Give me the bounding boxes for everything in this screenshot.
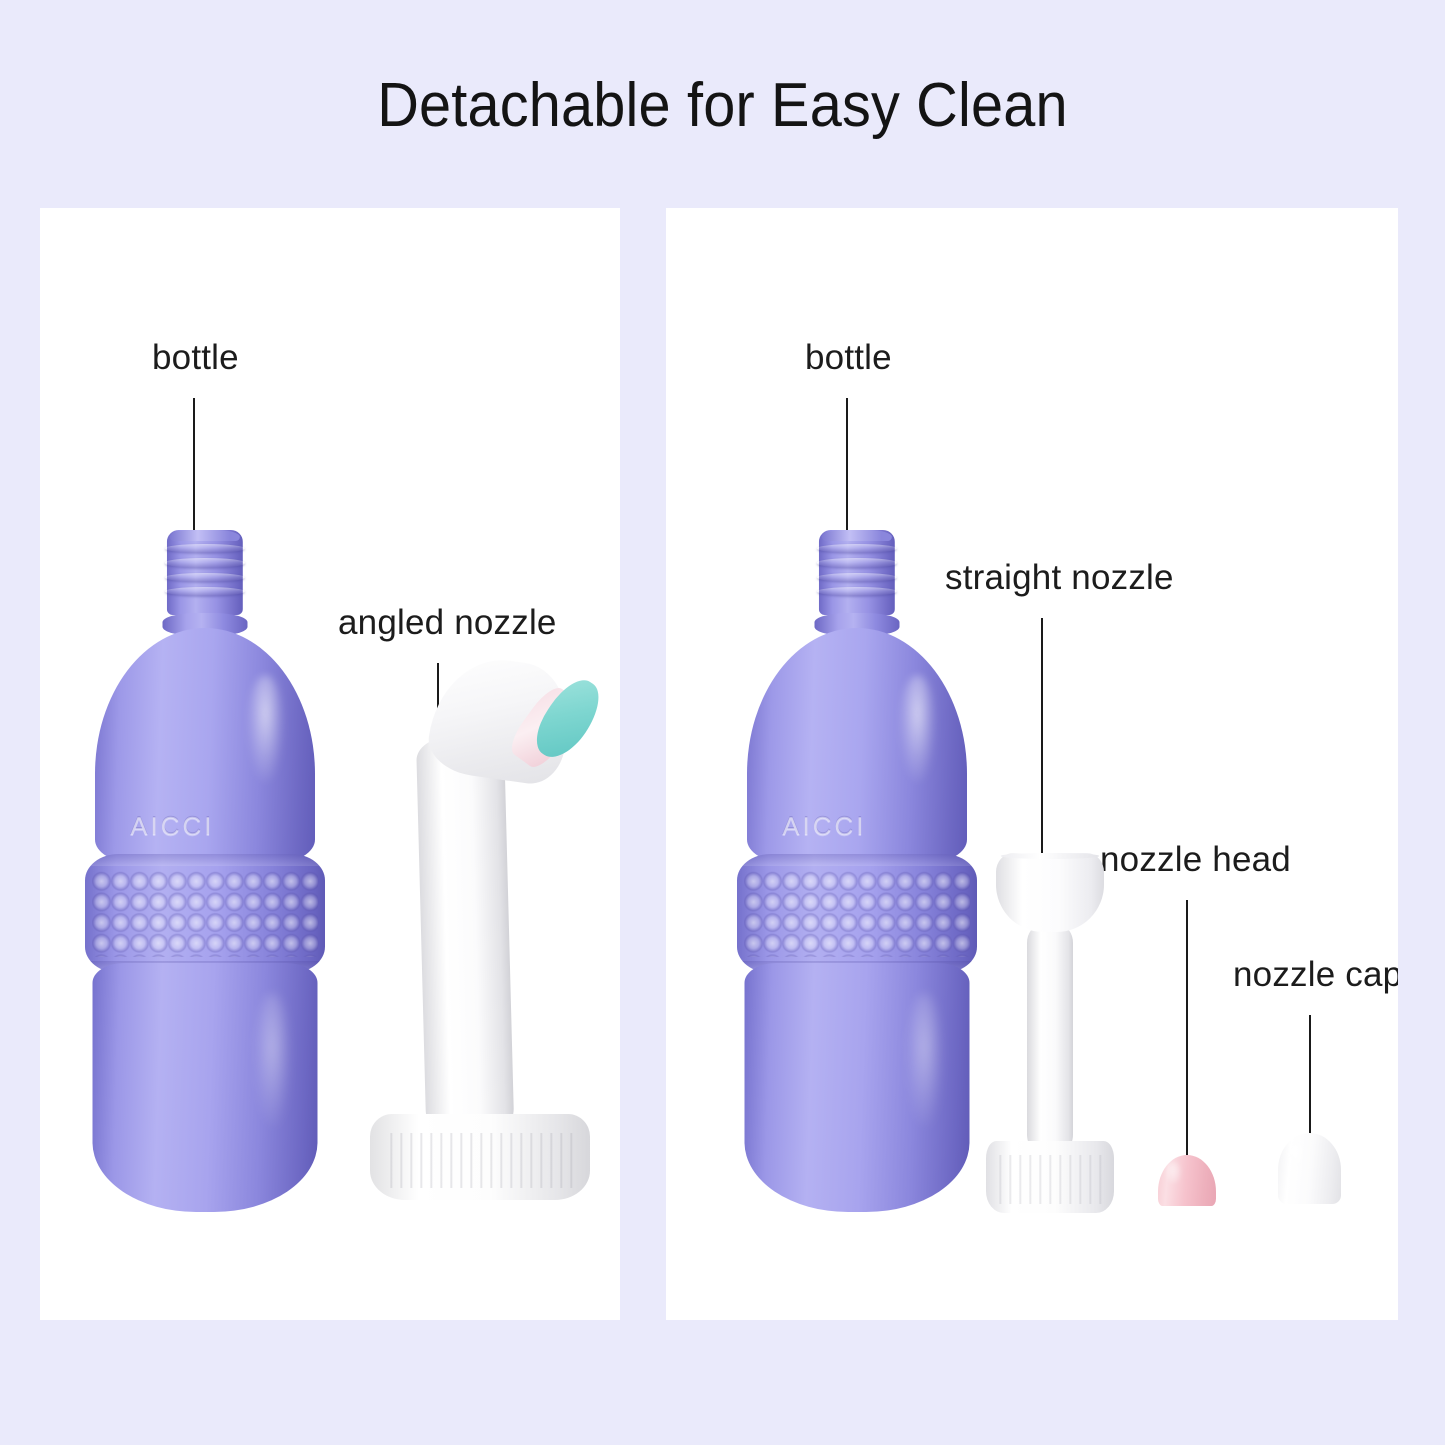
label-nozzle-head: nozzle head: [1100, 840, 1291, 880]
page-title: Detachable for Easy Clean: [51, 70, 1395, 141]
leader-line-straight-nozzle: [1041, 618, 1043, 863]
nozzle-cap-part: [1278, 1133, 1341, 1204]
bottle-brand-emboss: AICCI: [130, 811, 214, 842]
infographic-canvas: Detachable for Easy Clean bottle angled …: [0, 0, 1445, 1445]
nozzle-head-part: [1158, 1155, 1216, 1206]
label-nozzle-cap: nozzle cap: [1233, 955, 1398, 995]
right-panel: bottle straight nozzle nozzle head nozzl…: [666, 208, 1398, 1320]
bottle-left: AICCI: [80, 530, 330, 1212]
straight-nozzle-cup-head: [996, 853, 1104, 932]
bottle-right: AICCI: [732, 530, 982, 1212]
bottle-grip-band: [737, 854, 977, 973]
straight-nozzle-part: [986, 853, 1114, 1213]
leader-line-bottle-left: [193, 398, 195, 538]
bottle-neck: [167, 530, 243, 615]
bottle-shoulder: AICCI: [95, 628, 315, 863]
label-angled-nozzle: angled nozzle: [338, 603, 557, 643]
straight-nozzle-waist: [1027, 925, 1073, 1148]
bottle-neck: [819, 530, 895, 615]
bottle-grip-band: [85, 854, 325, 973]
bottle-shoulder: AICCI: [747, 628, 967, 863]
angled-nozzle-base-cap: [370, 1114, 590, 1200]
straight-nozzle-base-cap: [986, 1141, 1114, 1213]
left-panel: bottle angled nozzle AICCI: [40, 208, 620, 1320]
label-bottle-left: bottle: [152, 338, 239, 378]
angled-nozzle-part: [370, 660, 590, 1200]
angled-nozzle-stem: [416, 735, 514, 1126]
leader-line-nozzle-head: [1186, 900, 1188, 1165]
bottle-brand-emboss: AICCI: [782, 811, 866, 842]
bottle-lower-body: [745, 963, 970, 1212]
leader-line-bottle-right: [846, 398, 848, 538]
leader-line-nozzle-cap: [1309, 1015, 1311, 1135]
bottle-lower-body: [93, 963, 318, 1212]
label-bottle-right: bottle: [805, 338, 892, 378]
